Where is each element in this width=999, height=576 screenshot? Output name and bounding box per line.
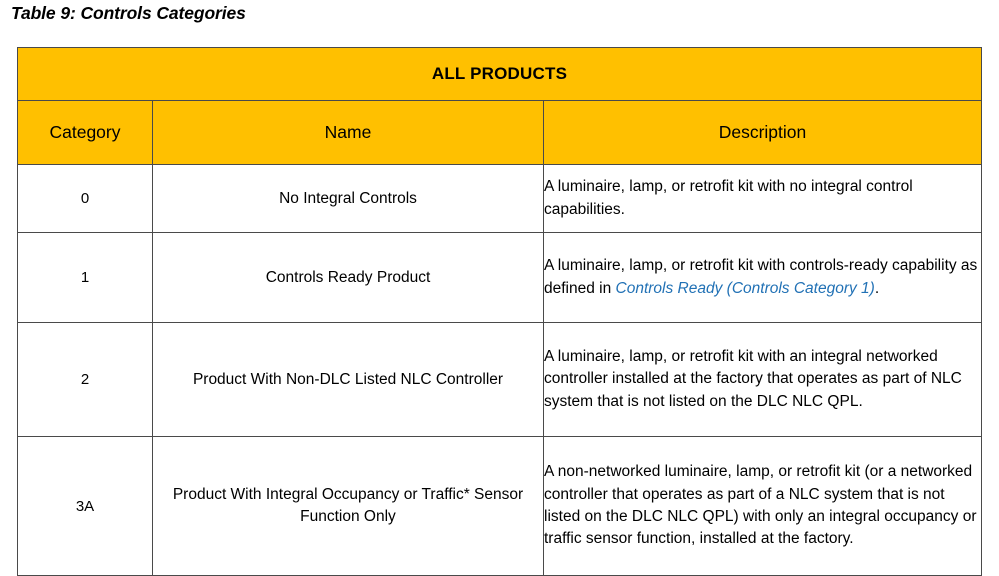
- cell-description: A luminaire, lamp, or retrofit kit with …: [544, 233, 982, 323]
- cell-name: Product With Integral Occupancy or Traff…: [153, 437, 544, 576]
- column-header-category-label: Category: [49, 122, 120, 142]
- controls-categories-table-wrapper: ALL PRODUCTS Category Name Description: [17, 47, 981, 576]
- column-header-name: Name: [153, 101, 544, 165]
- column-header-name-label: Name: [325, 122, 372, 142]
- cell-category: 2: [18, 323, 153, 437]
- column-header-description: Description: [544, 101, 982, 165]
- column-header-description-label: Description: [719, 122, 807, 142]
- cell-category: 1: [18, 233, 153, 323]
- table-caption: Table 9: Controls Categories: [11, 3, 246, 24]
- cell-category: 0: [18, 165, 153, 233]
- document-page: Table 9: Controls Categories ALL PRODUCT…: [0, 0, 999, 574]
- description-text-tail: .: [875, 280, 879, 297]
- column-header-category: Category: [18, 101, 153, 165]
- cell-category: 3A: [18, 437, 153, 576]
- table-row: 2 Product With Non-DLC Listed NLC Contro…: [18, 323, 982, 437]
- table-header-row: Category Name Description: [18, 101, 982, 165]
- cell-name: Product With Non-DLC Listed NLC Controll…: [153, 323, 544, 437]
- table-band-cell: ALL PRODUCTS: [18, 48, 982, 101]
- all-products-label: ALL PRODUCTS: [432, 64, 567, 83]
- cell-description: A non-networked luminaire, lamp, or retr…: [544, 437, 982, 576]
- cell-name: No Integral Controls: [153, 165, 544, 233]
- cell-description: A luminaire, lamp, or retrofit kit with …: [544, 323, 982, 437]
- table-row: 0 No Integral Controls A luminaire, lamp…: [18, 165, 982, 233]
- table-row: 3A Product With Integral Occupancy or Tr…: [18, 437, 982, 576]
- table-row: 1 Controls Ready Product A luminaire, la…: [18, 233, 982, 323]
- controls-ready-link[interactable]: Controls Ready (Controls Category 1): [616, 280, 875, 297]
- table-band-row: ALL PRODUCTS: [18, 48, 982, 101]
- cell-name: Controls Ready Product: [153, 233, 544, 323]
- cell-description: A luminaire, lamp, or retrofit kit with …: [544, 165, 982, 233]
- controls-categories-table: ALL PRODUCTS Category Name Description: [17, 47, 982, 576]
